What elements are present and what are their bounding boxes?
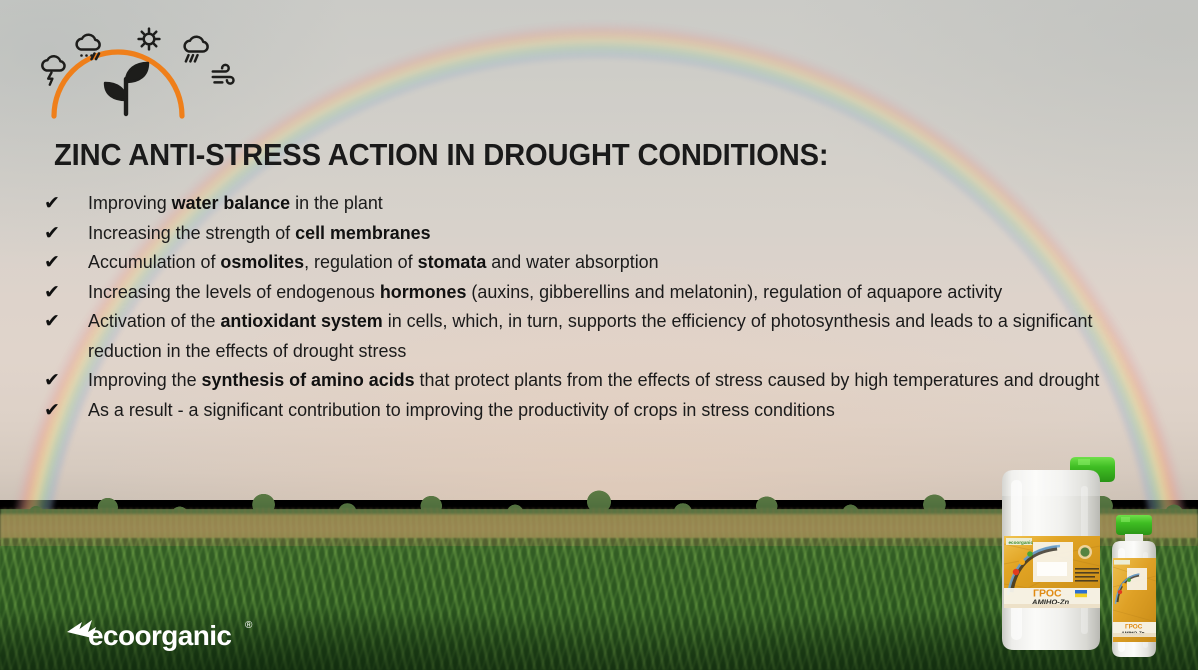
brand-wordmark: ecoorganic	[88, 620, 231, 651]
bullet-text: As a result - a significant contribution…	[88, 396, 1144, 426]
bullet-list: ✔Improving water balance in the plant✔In…	[40, 189, 1160, 425]
bullet-item: ✔Improving water balance in the plant	[40, 189, 1160, 219]
cloud-lightning-icon	[42, 56, 64, 84]
product-canister: ecoorganic ГРОС АМІНО-Zn	[1002, 457, 1115, 650]
product-shot: ecoorganic ГРОС АМІНО-Zn	[975, 452, 1198, 670]
checkmark-icon: ✔	[40, 366, 88, 396]
bullet-text: Improving the synthesis of amino acids t…	[88, 366, 1144, 396]
checkmark-icon: ✔	[40, 278, 88, 308]
bullet-text: Improving water balance in the plant	[88, 189, 1144, 219]
bottle-brand-text: ГРОС	[1125, 624, 1143, 631]
registered-mark: ®	[245, 620, 253, 631]
bullet-item: ✔Improving the synthesis of amino acids …	[40, 366, 1160, 396]
bullet-text: Increasing the levels of endogenous horm…	[88, 278, 1144, 308]
cloud-rain-icon	[185, 37, 208, 62]
weather-arc-badge	[30, 12, 250, 122]
bullet-item: ✔Increasing the strength of cell membran…	[40, 219, 1160, 249]
bottle-label: ГРОС АМІНО-Zn	[1113, 558, 1156, 642]
orange-arc-icon	[54, 52, 182, 116]
slide-canvas: ZINC ANTI-STRESS ACTION IN DROUGHT CONDI…	[0, 0, 1198, 670]
sprout-icon	[105, 63, 148, 114]
wind-icon	[213, 65, 234, 84]
bullet-item: ✔As a result - a significant contributio…	[40, 396, 1160, 426]
checkmark-icon: ✔	[40, 396, 88, 426]
canister-label: ecoorganic ГРОС АМІНО-Zn	[1004, 536, 1100, 608]
bullet-text: Accumulation of osmolites, regulation of…	[88, 248, 1144, 278]
svg-text:ecoorganic: ecoorganic	[1009, 540, 1034, 545]
bullet-text: Increasing the strength of cell membrane…	[88, 219, 1144, 249]
bullet-item: ✔Activation of the antioxidant system in…	[40, 307, 1160, 366]
checkmark-icon: ✔	[40, 307, 88, 337]
checkmark-icon: ✔	[40, 219, 88, 249]
product-bottle: ГРОС АМІНО-Zn	[1112, 515, 1156, 657]
bullet-item: ✔Accumulation of osmolites, regulation o…	[40, 248, 1160, 278]
checkmark-icon: ✔	[40, 189, 88, 219]
slide-title: ZINC ANTI-STRESS ACTION IN DROUGHT CONDI…	[54, 138, 1105, 173]
bullet-item: ✔Increasing the levels of endogenous hor…	[40, 278, 1160, 308]
checkmark-icon: ✔	[40, 248, 88, 278]
ecoorganic-logo: ecoorganic ®	[62, 614, 272, 654]
bullet-text: Activation of the antioxidant system in …	[88, 307, 1144, 366]
sun-icon	[139, 29, 160, 50]
